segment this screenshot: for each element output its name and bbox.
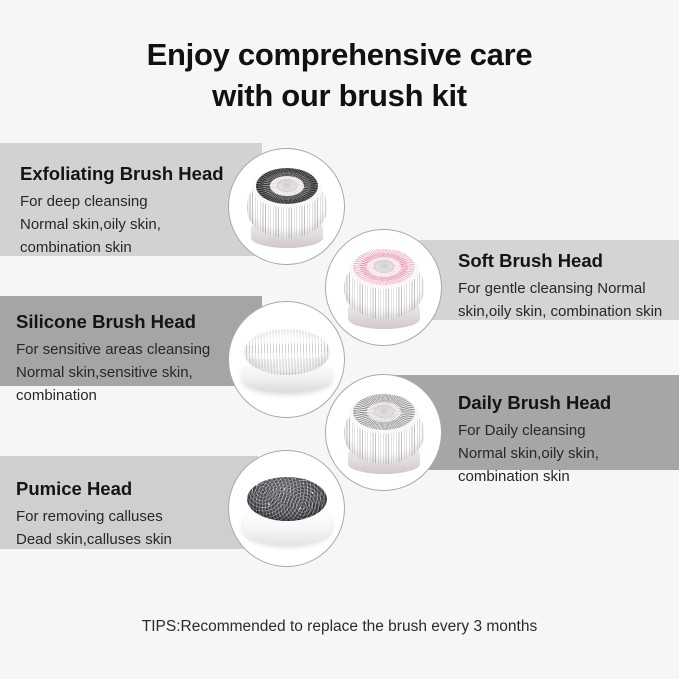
product-desc-line: For deep cleansing — [20, 191, 224, 214]
product-desc-line: combination — [16, 385, 210, 408]
text-block-silicone-brush-head: Silicone Brush Head For sensitive areas … — [16, 311, 210, 408]
infographic-canvas: Enjoy comprehensive care with our brush … — [0, 0, 679, 679]
product-image-circle-pumice — [228, 450, 345, 567]
daily-brush-head-image — [341, 390, 427, 476]
product-name-soft: Soft Brush Head — [458, 250, 662, 272]
product-name-silicone: Silicone Brush Head — [16, 311, 210, 333]
pumice-head-image — [239, 472, 335, 546]
product-desc-line: For gentle cleansing Normal — [458, 278, 662, 301]
product-desc-line: Normal skin,sensitive skin, — [16, 362, 210, 385]
product-desc-line: Normal skin,oily skin, — [458, 443, 611, 466]
product-desc-line: For removing calluses — [16, 506, 172, 529]
footer-tip: TIPS:Recommended to replace the brush ev… — [0, 618, 679, 636]
product-image-circle-exfoliating — [228, 148, 345, 265]
product-desc-line: skin,oily skin, combination skin — [458, 301, 662, 324]
product-name-daily: Daily Brush Head — [458, 392, 611, 414]
product-name-pumice: Pumice Head — [16, 478, 172, 500]
product-desc-line: combination skin — [20, 237, 224, 260]
text-block-exfoliating-brush-head: Exfoliating Brush Head For deep cleansin… — [20, 163, 224, 260]
product-desc-line: For sensitive areas cleansing — [16, 339, 210, 362]
exfoliating-brush-head-image — [244, 164, 330, 250]
soft-brush-head-image — [341, 245, 427, 331]
page-title-line-2: with our brush kit — [0, 75, 679, 116]
product-desc-line: combination skin — [458, 466, 611, 489]
product-image-circle-soft — [325, 229, 442, 346]
product-desc-line: Normal skin,oily skin, — [20, 214, 224, 237]
text-block-pumice-head: Pumice Head For removing calluses Dead s… — [16, 478, 172, 552]
text-block-daily-brush-head: Daily Brush Head For Daily cleansing Nor… — [458, 392, 611, 489]
page-title: Enjoy comprehensive care with our brush … — [0, 34, 679, 116]
product-desc-line: Dead skin,calluses skin — [16, 529, 172, 552]
page-title-line-1: Enjoy comprehensive care — [0, 34, 679, 75]
silicone-brush-head-image — [240, 325, 334, 395]
product-image-circle-daily — [325, 374, 442, 491]
product-desc-line: For Daily cleansing — [458, 420, 611, 443]
product-name-exfoliating: Exfoliating Brush Head — [20, 163, 224, 185]
text-block-soft-brush-head: Soft Brush Head For gentle cleansing Nor… — [458, 250, 662, 324]
product-image-circle-silicone — [228, 301, 345, 418]
